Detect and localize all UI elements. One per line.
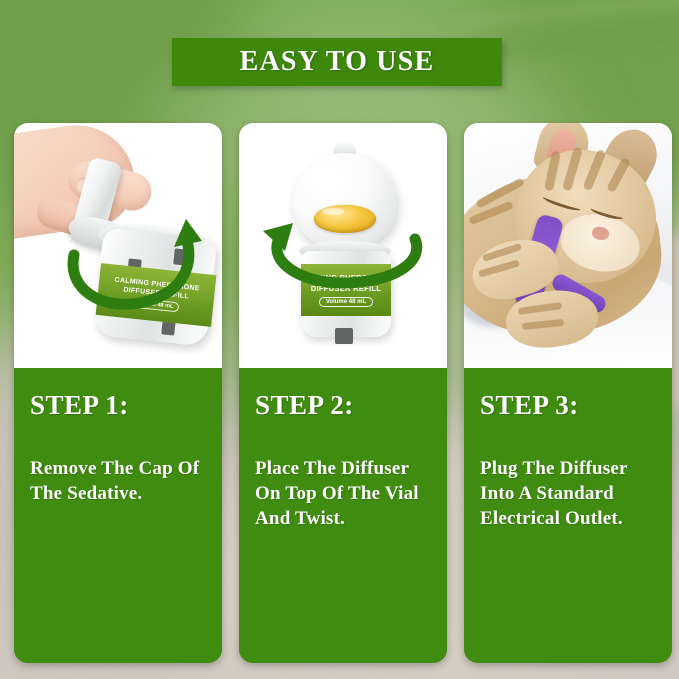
step-2-label: STEP 2: [255, 390, 431, 421]
step-1-body: STEP 1: Remove The Cap Of The Sedative. [14, 368, 222, 663]
vial-plug [335, 328, 353, 344]
step-card-3: STEP 3: Plug The Diffuser Into A Standar… [464, 123, 672, 663]
product-label: CALMING PHEROMONE DIFFUSER REFILL Volume… [301, 264, 391, 316]
product-label-volume: Volume 48 mL [319, 297, 373, 307]
step-3-body: STEP 3: Plug The Diffuser Into A Standar… [464, 368, 672, 663]
product-label-line1: CALMING PHEROMONE [300, 273, 391, 282]
steps-container: CALMING PHEROMONE DIFFUSER REFILL Volume… [14, 123, 673, 663]
step-2-body: STEP 2: Place The Diffuser On Top Of The… [239, 368, 447, 663]
step-3-label: STEP 3: [480, 390, 656, 421]
hand-removing-cap-photo: CALMING PHEROMONE DIFFUSER REFILL Volume… [14, 123, 222, 368]
sleeping-cat-photo [464, 123, 672, 368]
diffuser-dome [293, 153, 397, 249]
vial-clip [173, 248, 188, 265]
step-3-text: Plug The Diffuser Into A Standard Electr… [480, 456, 656, 531]
header-banner: EASY TO USE [172, 38, 502, 86]
product-label-volume: Volume 48 mL [130, 297, 180, 312]
page-title: EASY TO USE [240, 46, 435, 78]
diffuser-amber-accent [314, 205, 376, 233]
product-label-line2: DIFFUSER REFILL [311, 284, 381, 293]
step-1-text: Remove The Cap Of The Sedative. [30, 456, 206, 506]
diffuser-on-vial-photo: CALMING PHEROMONE DIFFUSER REFILL Volume… [239, 123, 447, 368]
step-card-1: CALMING PHEROMONE DIFFUSER REFILL Volume… [14, 123, 222, 663]
step-card-2: CALMING PHEROMONE DIFFUSER REFILL Volume… [239, 123, 447, 663]
step-2-text: Place The Diffuser On Top Of The Vial An… [255, 456, 431, 531]
step-1-label: STEP 1: [30, 390, 206, 421]
